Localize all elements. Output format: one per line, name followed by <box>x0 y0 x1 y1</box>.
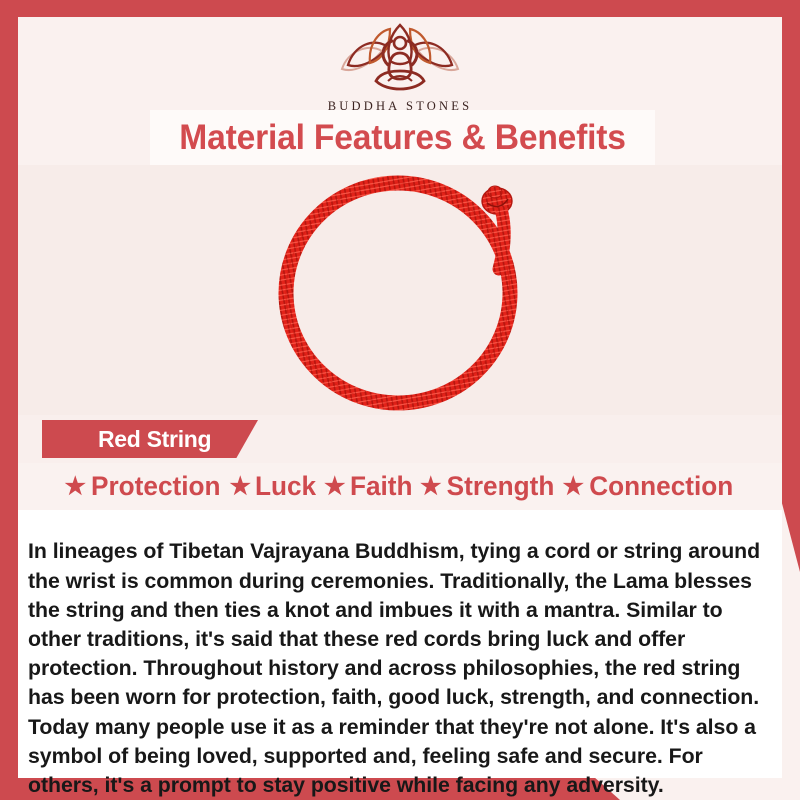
frame-band-top <box>0 0 800 17</box>
feature-label: Protection <box>91 471 221 502</box>
feature-item-faith: ★ Faith <box>324 471 413 502</box>
lotus-meditation-icon <box>330 21 470 98</box>
frame-band-right <box>782 0 800 572</box>
header: BUDDHA STONES Material Features & Benefi… <box>18 17 782 165</box>
feature-label: Connection <box>589 471 733 502</box>
star-icon: ★ <box>420 475 442 499</box>
feature-label: Faith <box>349 471 412 502</box>
feature-item-luck: ★ Luck <box>229 471 317 502</box>
material-name-label: Red String <box>98 426 211 453</box>
page-title: Material Features & Benefits <box>179 118 626 158</box>
description-text: In lineages of Tibetan Vajrayana Buddhis… <box>28 537 774 800</box>
material-name-ribbon: Red String <box>42 420 258 458</box>
star-icon: ★ <box>324 475 346 499</box>
star-icon: ★ <box>64 475 86 499</box>
frame-band-left <box>0 0 18 783</box>
description-panel: In lineages of Tibetan Vajrayana Buddhis… <box>18 510 782 778</box>
feature-list: ★ Protection ★ Luck ★ Faith ★ Strength ★… <box>18 463 782 510</box>
feature-item-connection: ★ Connection <box>563 471 736 502</box>
star-icon: ★ <box>229 475 251 499</box>
brand-logo: BUDDHA STONES <box>18 17 782 113</box>
feature-item-strength: ★ Strength <box>420 471 556 502</box>
feature-label: Luck <box>255 471 316 502</box>
title-bar: Material Features & Benefits <box>150 110 655 166</box>
feature-item-protection: ★ Protection <box>64 471 222 502</box>
feature-label: Strength <box>446 471 554 502</box>
star-icon: ★ <box>563 475 585 499</box>
infographic-page: BUDDHA STONES Material Features & Benefi… <box>0 0 800 800</box>
ribbon-row: Red String <box>18 415 782 463</box>
product-image <box>18 165 782 415</box>
